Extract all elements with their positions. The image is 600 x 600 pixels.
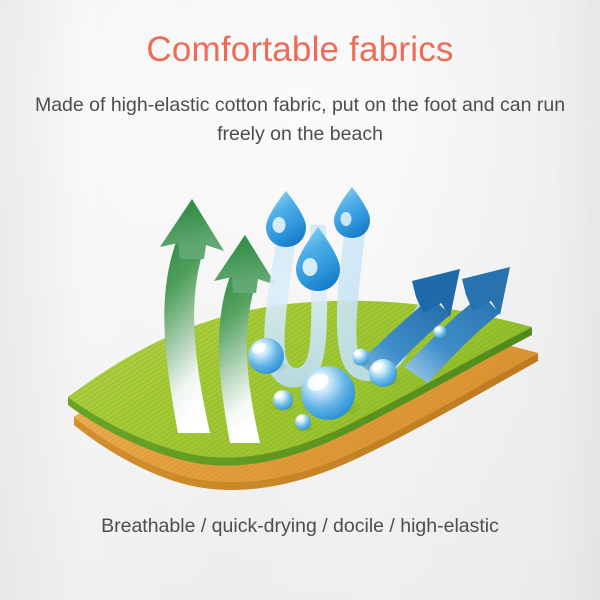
page-title: Comfortable fabrics <box>0 30 600 70</box>
falling-droplet-2 <box>334 187 370 238</box>
feature-list: Breathable / quick-drying / docile / hig… <box>0 515 600 538</box>
page-subtitle: Made of high-elastic cotton fabric, put … <box>28 91 572 149</box>
product-feature-poster: Comfortable fabrics Made of high-elastic… <box>0 0 600 600</box>
breathable-fabric-illustration <box>60 185 540 495</box>
falling-droplet-1 <box>266 191 306 247</box>
